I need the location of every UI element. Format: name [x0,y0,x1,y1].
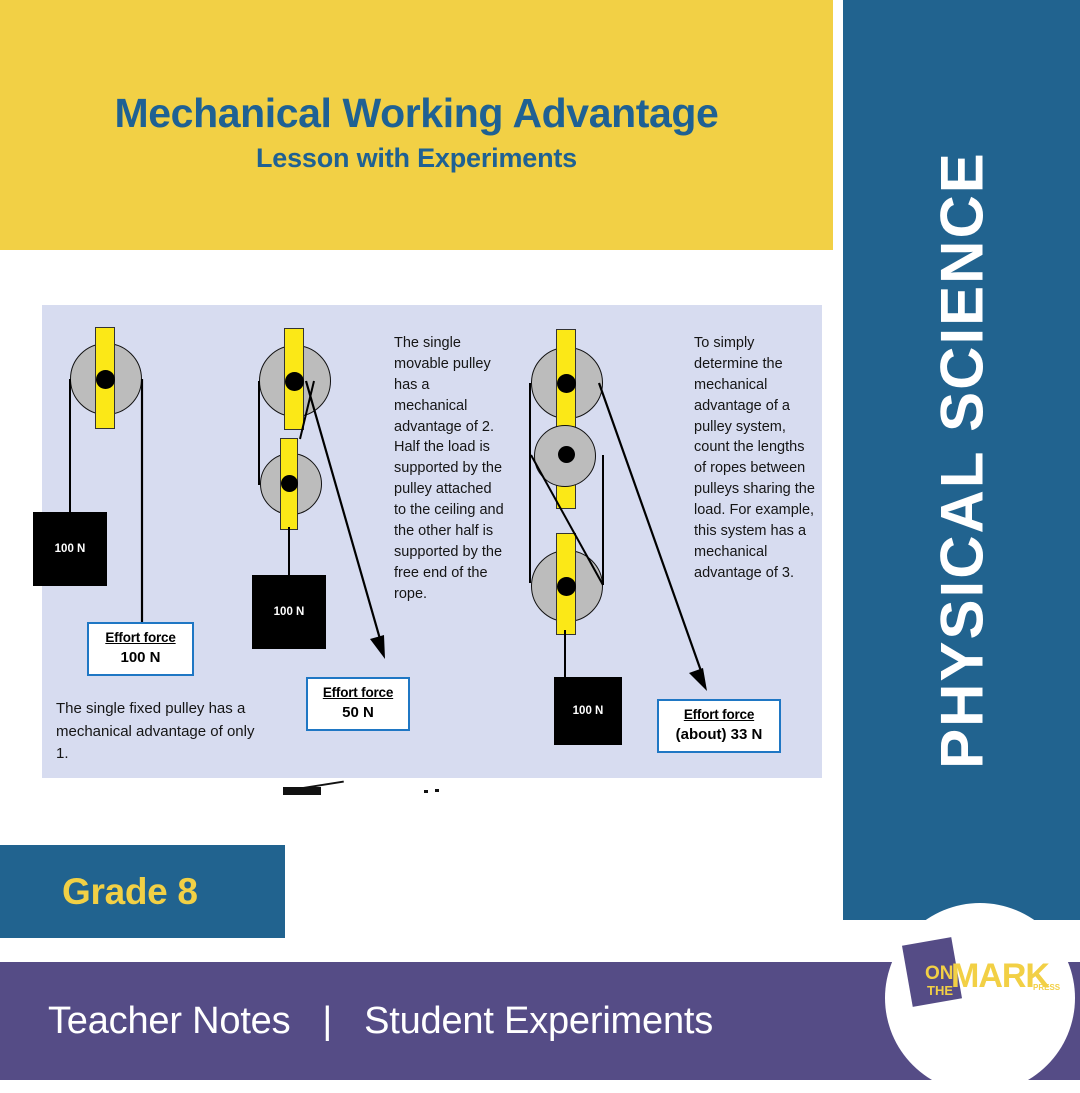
pulley-hub-icon [281,475,298,492]
effort-force-title: Effort force [669,707,769,722]
effort-force-title: Effort force [99,630,182,645]
effort-force-box-2: Effort force 50 N [306,677,410,731]
effort-force-value: (about) 33 N [669,726,769,743]
pulley-hub-icon [96,370,115,389]
page-title: Mechanical Working Advantage [0,92,833,135]
caption-system-2: The single movable pulley has a mechanic… [394,333,506,604]
grade-label: Grade 8 [62,871,198,913]
pulley-hub-icon [557,374,576,393]
load-block-2: 100 N [252,575,326,649]
effort-force-box-1: Effort force 100 N [87,622,194,676]
header-text-group: Mechanical Working Advantage Lesson with… [0,92,833,174]
effort-force-title: Effort force [318,685,398,700]
clipped-artifact [435,789,439,792]
footer-student-experiments: Student Experiments [364,1000,713,1042]
effort-force-box-3: Effort force (about) 33 N [657,699,781,753]
effort-force-value: 100 N [99,649,182,666]
effort-arrow-1 [136,379,156,649]
logo-word-press: PRESS [1033,983,1060,992]
clipped-artifact [424,790,428,793]
rope-block-strand [564,630,566,680]
subject-label: PHYSICAL SCIENCE [927,151,996,769]
footer-teacher-notes: Teacher Notes [48,1000,290,1042]
footer-separator: | [322,1000,332,1042]
caption-system-1: The single fixed pulley has a mechanical… [56,698,256,766]
pulley-diagram-panel: 100 N Effort force 100 N The single fixe… [42,305,822,778]
load-block-3: 100 N [554,677,622,745]
page-subtitle: Lesson with Experiments [0,143,833,174]
grade-badge: Grade 8 [0,845,285,938]
header-band: Mechanical Working Advantage Lesson with… [0,0,833,250]
logo-word-the: THE [927,983,953,998]
clipped-artifact [300,781,344,790]
subject-sidebar: PHYSICAL SCIENCE [843,0,1080,920]
load-block-1: 100 N [33,512,107,586]
logo-badge: ON THE MARK PRESS [885,903,1075,1093]
caption-system-3: To simply determine the mechanical advan… [694,333,816,584]
footer-text-group: Teacher Notes|Student Experiments [48,1000,713,1043]
load-label: 100 N [274,606,305,618]
rope-left-strand [258,381,260,485]
rope-load-side [69,379,71,534]
load-label: 100 N [55,543,86,555]
effort-force-value: 50 N [318,704,398,721]
logo-word-on: ON [925,965,954,983]
load-label: 100 N [573,705,604,717]
rope-block-strand [288,527,290,577]
